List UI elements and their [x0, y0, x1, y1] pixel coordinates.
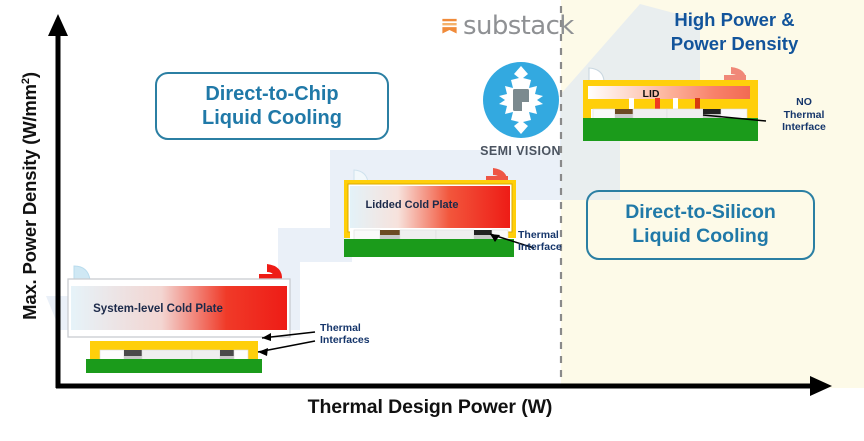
callout-direct-to-chip: Direct-to-Chip Liquid Cooling	[155, 72, 389, 140]
callout-direct-to-silicon-line2: Liquid Cooling	[632, 225, 768, 249]
annotation-no-thermal-interface-line3: Interface	[766, 121, 842, 134]
plate-label-lidded: Lidded Cold Plate	[366, 199, 459, 211]
annotation-thermal-interface-lidded-line2: Interface	[518, 241, 582, 253]
y-axis-title-close: )	[19, 72, 40, 78]
substack-logo-icon	[441, 17, 458, 35]
diagram-system-level-cold-plate: System-level Cold Plate	[62, 262, 352, 374]
semi-vision-label: SEMI VISION	[463, 144, 578, 158]
y-axis-title-exponent: 2	[20, 78, 32, 84]
semi-vision-eye-logo	[479, 58, 563, 142]
annotation-thermal-interfaces: Thermal Interfaces	[320, 322, 400, 347]
diagram-canvas: Max. Power Density (W/mm2) Thermal Desig…	[0, 0, 864, 441]
diagram-direct-to-silicon-stack: LID	[583, 66, 773, 146]
plate-label-system-level: System-level Cold Plate	[93, 303, 223, 315]
label-high-power-density: High Power & Power Density	[612, 8, 857, 57]
callout-direct-to-silicon-line1: Direct-to-Silicon	[625, 201, 776, 225]
annotation-thermal-interfaces-line1: Thermal	[320, 322, 400, 334]
semi-vision-logo: SEMI VISION	[463, 58, 578, 158]
annotation-no-thermal-interface-line2: Thermal	[766, 109, 842, 122]
x-axis-title: Thermal Design Power (W)	[180, 396, 680, 419]
annotation-thermal-interfaces-line2: Interfaces	[320, 334, 400, 346]
callout-direct-to-chip-line2: Liquid Cooling	[202, 106, 342, 130]
annotation-no-thermal-interface: NO Thermal Interface	[766, 96, 842, 134]
callout-direct-to-chip-line1: Direct-to-Chip	[205, 82, 338, 106]
label-high-power-line1: High Power &	[612, 8, 857, 32]
substack-wordmark-text: substack	[463, 11, 574, 41]
y-axis-title-text: Max. Power Density (W/mm	[19, 84, 40, 320]
callout-direct-to-silicon: Direct-to-Silicon Liquid Cooling	[586, 190, 815, 260]
substack-logo: substack	[441, 11, 574, 41]
annotation-thermal-interface-lidded-line1: Thermal	[518, 229, 582, 241]
y-axis-title: Max. Power Density (W/mm2)	[19, 16, 41, 376]
label-high-power-line2: Power Density	[612, 32, 857, 56]
annotation-thermal-interface-lidded: Thermal Interface	[518, 229, 582, 254]
annotation-no-thermal-interface-line1: NO	[766, 96, 842, 109]
